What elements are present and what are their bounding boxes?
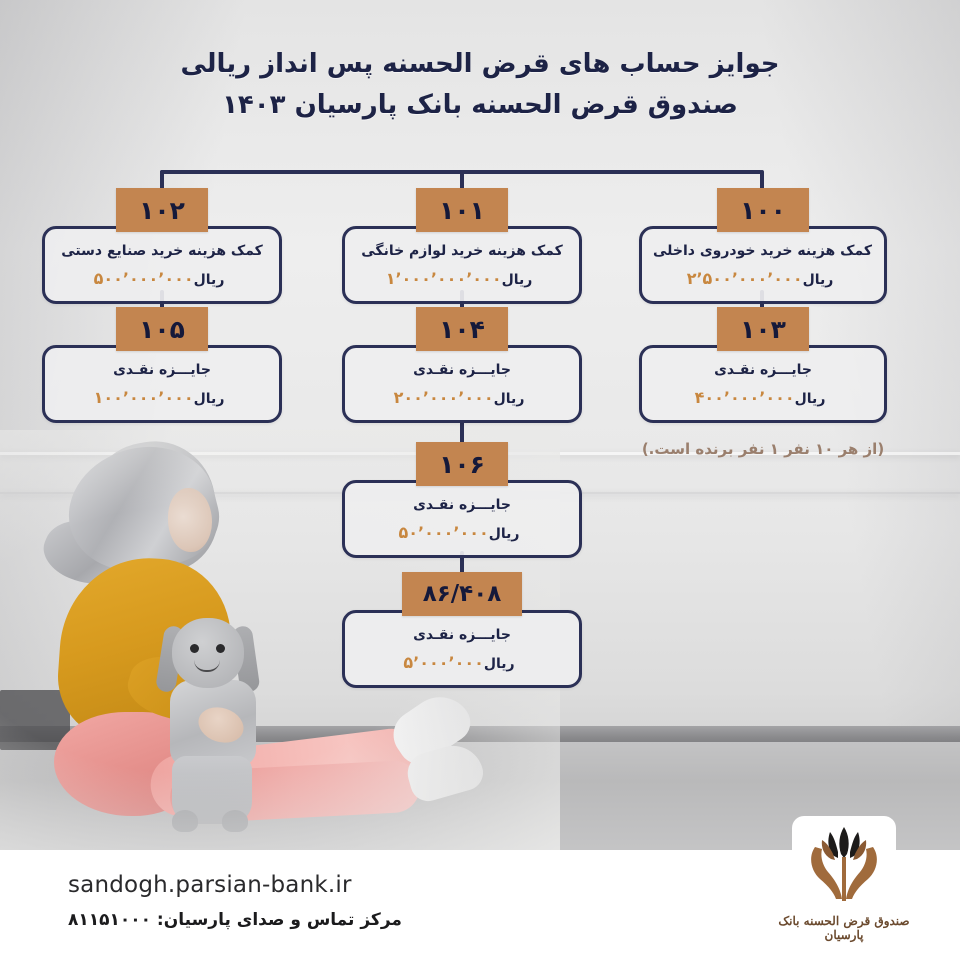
prize-amount-106: ریال۵۰٬۰۰۰٬۰۰۰ <box>357 523 567 544</box>
prize-card-105[interactable]: جایـــزه نقـدی ریال۱۰۰٬۰۰۰٬۰۰۰ <box>42 345 282 423</box>
prize-value-101: ۱٬۰۰۰٬۰۰۰٬۰۰۰ <box>386 269 502 288</box>
prize-card-100[interactable]: کمک هزینه خرید خودروی داخلی ریال۲٬۵۰۰٬۰۰… <box>639 226 887 304</box>
prize-value-100: ۲٬۵۰۰٬۰۰۰٬۰۰۰ <box>687 269 803 288</box>
prize-amount-101: ریال۱٬۰۰۰٬۰۰۰٬۰۰۰ <box>357 269 567 290</box>
prize-unit-100: ریال <box>803 272 834 288</box>
prize-title-102: کمک هزینه خرید صنایع دستی <box>57 241 267 261</box>
prize-amount-100: ریال۲٬۵۰۰٬۰۰۰٬۰۰۰ <box>654 269 872 290</box>
prize-value-105: ۱۰۰٬۰۰۰٬۰۰۰ <box>94 388 194 407</box>
prize-card-106[interactable]: جایـــزه نقـدی ریال۵۰٬۰۰۰٬۰۰۰ <box>342 480 582 558</box>
prize-title-86408: جایـــزه نقـدی <box>357 625 567 645</box>
prize-badge-104: ۱۰۴ <box>416 307 508 351</box>
prize-node-104[interactable]: ۱۰۴ جایـــزه نقـدی ریال۲۰۰٬۰۰۰٬۰۰۰ <box>342 307 582 423</box>
contact-center-text: مرکز تماس و صدای پارسیان: ۸۱۱۵۱۰۰۰ <box>68 910 402 930</box>
prize-unit-105: ریال <box>194 391 225 407</box>
prize-value-104: ۲۰۰٬۰۰۰٬۰۰۰ <box>394 388 494 407</box>
prize-card-103[interactable]: جایـــزه نقـدی ریال۴۰۰٬۰۰۰٬۰۰۰ <box>639 345 887 423</box>
prize-node-103[interactable]: ۱۰۳ جایـــزه نقـدی ریال۴۰۰٬۰۰۰٬۰۰۰ <box>639 307 887 423</box>
prize-amount-103: ریال۴۰۰٬۰۰۰٬۰۰۰ <box>654 388 872 409</box>
prize-badge-101: ۱۰۱ <box>416 188 508 232</box>
prize-amount-104: ریال۲۰۰٬۰۰۰٬۰۰۰ <box>357 388 567 409</box>
prize-value-86408: ۵٬۰۰۰٬۰۰۰ <box>403 653 484 672</box>
prize-node-102[interactable]: ۱۰۲ کمک هزینه خرید صنایع دستی ریال۵۰۰٬۰۰… <box>42 188 282 304</box>
page-title: جوایز حساب های قرض الحسنه پس انداز ریالی… <box>0 44 960 126</box>
prize-title-103: جایـــزه نقـدی <box>654 360 872 380</box>
prize-unit-106: ریال <box>489 526 520 542</box>
prize-badge-105: ۱۰۵ <box>116 307 208 351</box>
prize-node-86408[interactable]: ۸۶/۴۰۸ جایـــزه نقـدی ریال۵٬۰۰۰٬۰۰۰ <box>342 572 582 688</box>
doll-eye-left <box>190 644 199 653</box>
prize-title-105: جایـــزه نقـدی <box>57 360 267 380</box>
prize-node-106[interactable]: ۱۰۶ جایـــزه نقـدی ریال۵۰٬۰۰۰٬۰۰۰ <box>342 442 582 558</box>
prize-card-102[interactable]: کمک هزینه خرید صنایع دستی ریال۵۰۰٬۰۰۰٬۰۰… <box>42 226 282 304</box>
prize-badge-106: ۱۰۶ <box>416 442 508 486</box>
prize-amount-86408: ریال۵٬۰۰۰٬۰۰۰ <box>357 653 567 674</box>
prize-title-101: کمک هزینه خرید لوازم خانگی <box>357 241 567 261</box>
prize-badge-103: ۱۰۳ <box>717 307 809 351</box>
prize-badge-100: ۱۰۰ <box>717 188 809 232</box>
prize-title-100: کمک هزینه خرید خودروی داخلی <box>654 241 872 261</box>
prize-value-102: ۵۰۰٬۰۰۰٬۰۰۰ <box>94 269 194 288</box>
tulip-hands-logo-icon <box>792 816 896 912</box>
prize-card-86408[interactable]: جایـــزه نقـدی ریال۵٬۰۰۰٬۰۰۰ <box>342 610 582 688</box>
prize-badge-102: ۱۰۲ <box>116 188 208 232</box>
website-link[interactable]: sandogh.parsian-bank.ir <box>68 872 352 898</box>
prize-unit-103: ریال <box>795 391 826 407</box>
prize-amount-105: ریال۱۰۰٬۰۰۰٬۰۰۰ <box>57 388 267 409</box>
prize-card-101[interactable]: کمک هزینه خرید لوازم خانگی ریال۱٬۰۰۰٬۰۰۰… <box>342 226 582 304</box>
prize-unit-102: ریال <box>194 272 225 288</box>
prize-amount-102: ریال۵۰۰٬۰۰۰٬۰۰۰ <box>57 269 267 290</box>
winner-ratio-note: (از هر ۱۰ نفر ۱ نفر برنده است.) <box>639 440 887 458</box>
prize-title-104: جایـــزه نقـدی <box>357 360 567 380</box>
title-line-2: صندوق قرض الحسنه بانک پارسیان ۱۴۰۳ <box>0 85 960 126</box>
prize-unit-104: ریال <box>494 391 525 407</box>
prize-node-101[interactable]: ۱۰۱ کمک هزینه خرید لوازم خانگی ریال۱٬۰۰۰… <box>342 188 582 304</box>
logo-caption: صندوق قرض الحسنه بانک پارسیان <box>768 914 920 942</box>
bank-logo: صندوق قرض الحسنه بانک پارسیان <box>768 816 920 942</box>
doll-head <box>172 618 244 688</box>
prize-node-105[interactable]: ۱۰۵ جایـــزه نقـدی ریال۱۰۰٬۰۰۰٬۰۰۰ <box>42 307 282 423</box>
doll-eye-right <box>216 644 225 653</box>
prize-value-103: ۴۰۰٬۰۰۰٬۰۰۰ <box>695 388 795 407</box>
prize-card-104[interactable]: جایـــزه نقـدی ریال۲۰۰٬۰۰۰٬۰۰۰ <box>342 345 582 423</box>
girl-face <box>168 488 212 552</box>
title-line-1: جوایز حساب های قرض الحسنه پس انداز ریالی <box>0 44 960 85</box>
prize-node-100[interactable]: ۱۰۰ کمک هزینه خرید خودروی داخلی ریال۲٬۵۰… <box>639 188 887 304</box>
prize-title-106: جایـــزه نقـدی <box>357 495 567 515</box>
prize-value-106: ۵۰٬۰۰۰٬۰۰۰ <box>398 523 488 542</box>
prize-badge-86408: ۸۶/۴۰۸ <box>402 572 522 616</box>
poster-root: جوایز حساب های قرض الحسنه پس انداز ریالی… <box>0 0 960 960</box>
footer-bar: sandogh.parsian-bank.ir مرکز تماس و صدای… <box>0 850 960 960</box>
prize-unit-101: ریال <box>502 272 533 288</box>
doll-foot-left <box>172 810 198 832</box>
doll-foot-right <box>222 810 248 832</box>
prize-unit-86408: ریال <box>484 656 515 672</box>
